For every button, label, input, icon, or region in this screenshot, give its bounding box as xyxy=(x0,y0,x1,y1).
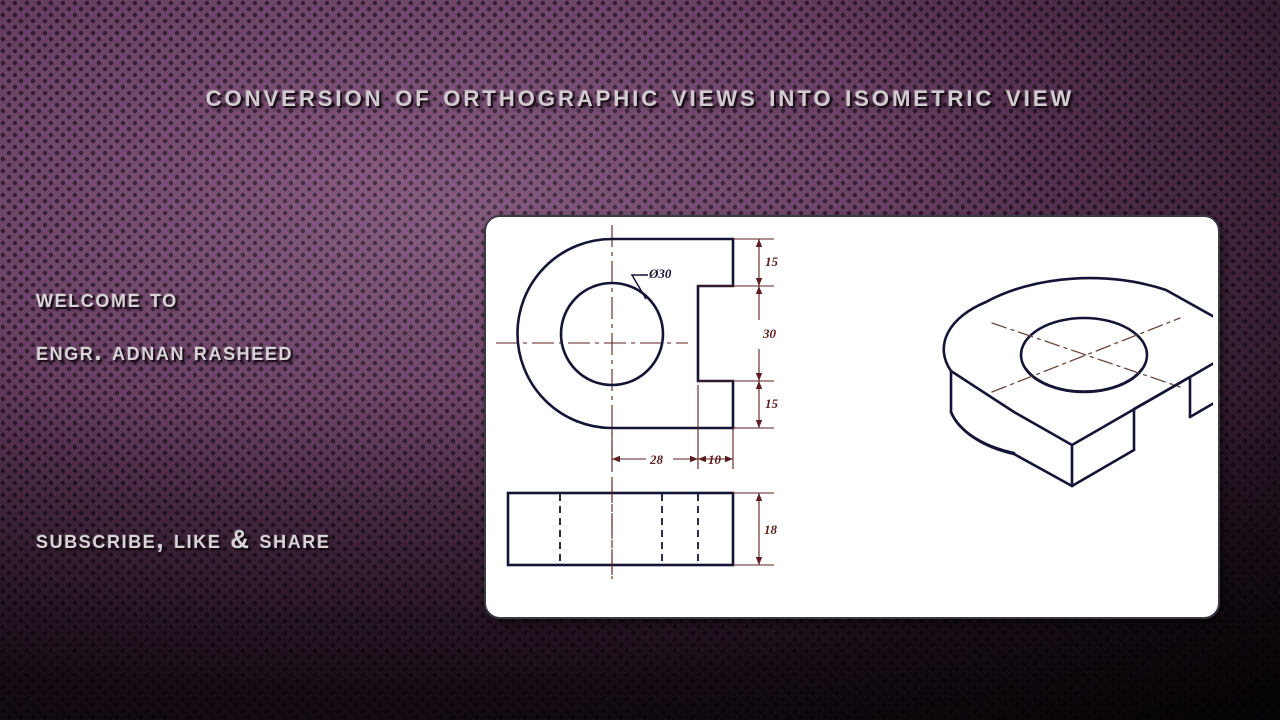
isometric-bottom-front-edge xyxy=(1014,454,1072,486)
page-title: Conversion of Orthographic Views into Is… xyxy=(0,78,1280,114)
arrow-15-bot-down xyxy=(756,420,762,428)
dimension-15-top: 15 xyxy=(765,254,779,269)
isometric-hole-bottom-arc xyxy=(1026,369,1142,392)
isometric-block-front-right-edge xyxy=(1072,450,1134,486)
arrow-18-up xyxy=(756,493,762,501)
top-view-outline xyxy=(508,493,733,565)
dimension-10: 10 xyxy=(708,452,722,467)
drawing-card: Ø30 15 30 xyxy=(484,215,1220,619)
dimension-30-middle: 30 xyxy=(762,326,777,341)
dimension-15-bottom: 15 xyxy=(765,396,779,411)
arrow-28-right xyxy=(690,456,698,462)
isometric-notch-inner-edge xyxy=(1190,381,1213,417)
arrow-10-left xyxy=(698,456,706,462)
dimension-18: 18 xyxy=(764,522,778,537)
arrow-15-top-up xyxy=(756,239,762,247)
isometric-block-top-right-edge xyxy=(1134,377,1190,409)
engineering-drawing: Ø30 15 30 xyxy=(486,217,1213,612)
arrow-10-right xyxy=(725,456,733,462)
call-to-action-text: Subscribe, like & share xyxy=(36,524,331,555)
slide-root: Conversion of Orthographic Views into Is… xyxy=(0,0,1280,720)
arrow-28-left xyxy=(612,456,620,462)
arrow-18-down xyxy=(756,557,762,565)
front-view-dimensions: 15 30 15 2 xyxy=(612,239,779,469)
top-view-group xyxy=(508,481,733,579)
presenter-name: Engr. Adnan Rasheed xyxy=(36,336,293,367)
arrow-30-down xyxy=(756,373,762,381)
isometric-top-face xyxy=(944,278,1213,445)
arrow-30-up xyxy=(756,286,762,294)
top-view-dimensions: 18 xyxy=(733,493,778,565)
dimension-28: 28 xyxy=(649,452,664,467)
isometric-view-group xyxy=(944,278,1213,486)
isometric-bottom-left-arc-outer xyxy=(951,412,1014,454)
arrow-15-bot-up xyxy=(756,381,762,389)
arrow-15-top-down xyxy=(756,278,762,286)
isometric-front-bottom-curve xyxy=(951,412,1014,453)
hole-callout-label: Ø30 xyxy=(648,266,672,281)
welcome-text: Welcome to xyxy=(36,283,178,314)
front-view-outline xyxy=(517,239,733,428)
